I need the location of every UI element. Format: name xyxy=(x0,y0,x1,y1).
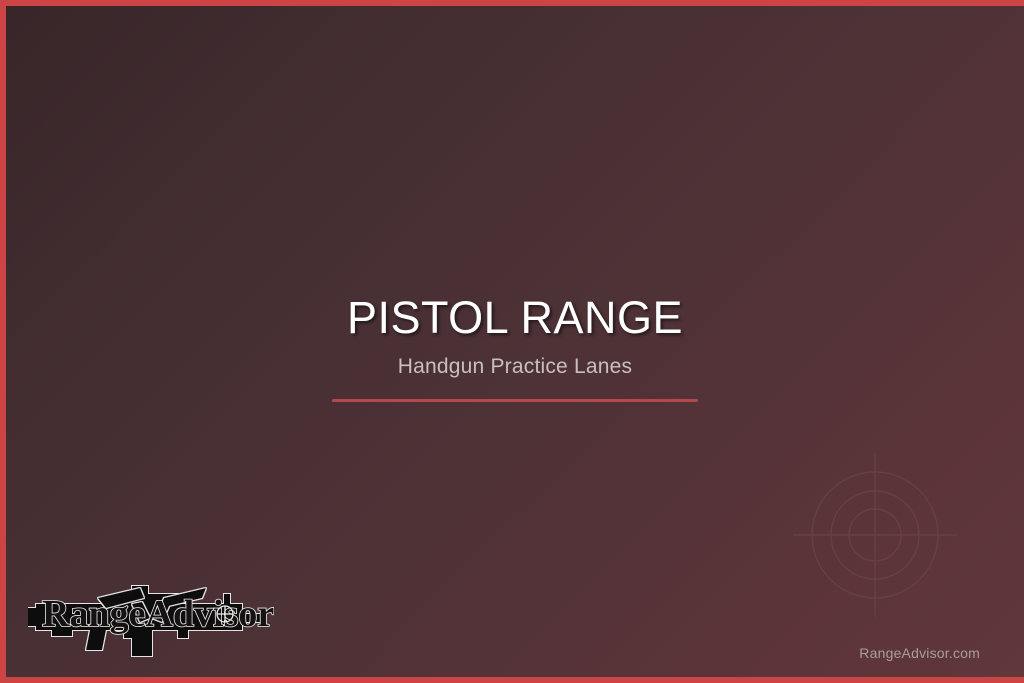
rifle-silhouette-icon: RangeAdvisor xyxy=(28,564,274,660)
page-subtitle: Handgun Practice Lanes xyxy=(6,355,1024,379)
target-crosshair-icon xyxy=(793,453,957,617)
title-block: PISTOL RANGE Handgun Practice Lanes xyxy=(6,294,1024,402)
title-divider xyxy=(332,399,698,402)
page-title: PISTOL RANGE xyxy=(6,294,1024,341)
footer-website-url: RangeAdvisor.com xyxy=(859,645,980,661)
logo-wordmark: RangeAdvisor xyxy=(42,593,274,635)
presentation-slide: PISTOL RANGE Handgun Practice Lanes xyxy=(0,0,1024,683)
